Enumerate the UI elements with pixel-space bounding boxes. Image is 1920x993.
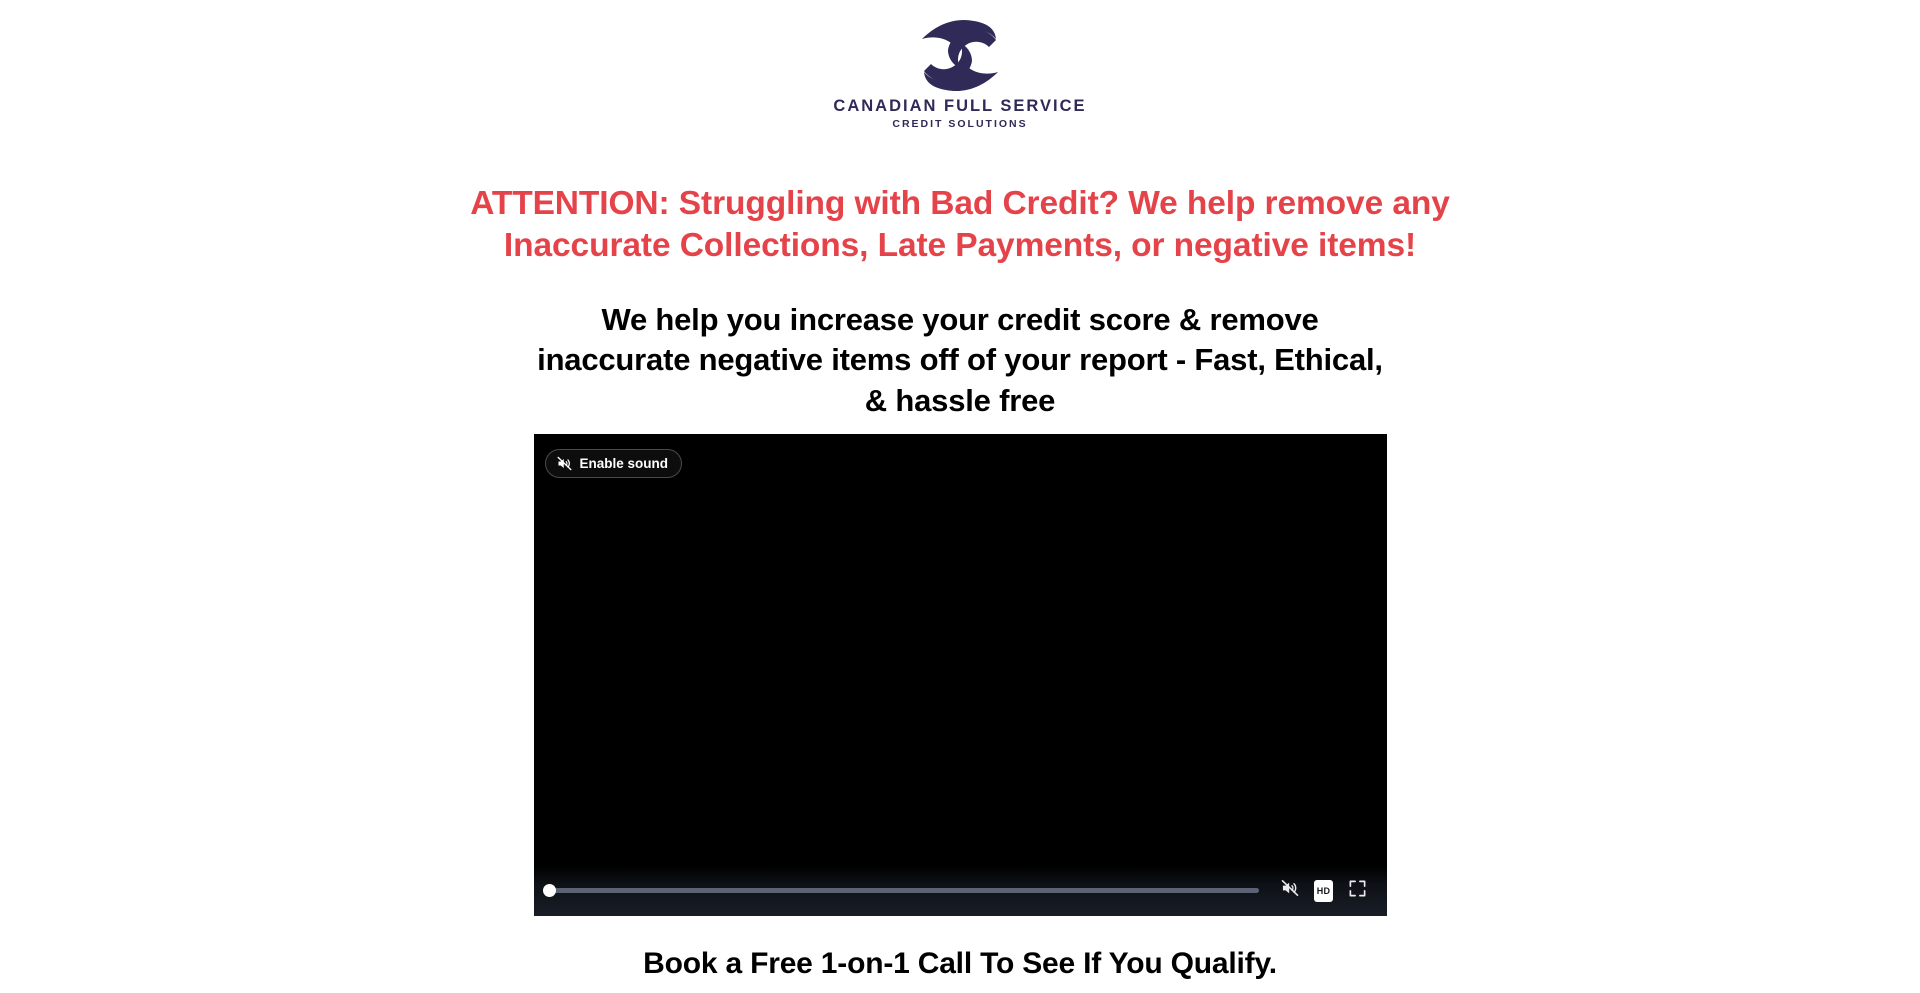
video-controls-bar: HD (534, 866, 1387, 916)
enable-sound-label: Enable sound (580, 456, 669, 471)
hd-quality-icon: HD (1314, 880, 1333, 902)
logo-tagline: CREDIT SOLUTIONS (892, 118, 1027, 130)
video-player[interactable]: Enable sound HD (534, 434, 1387, 916)
progress-track (544, 888, 1259, 893)
video-stage[interactable] (534, 434, 1387, 916)
landing-page: CANADIAN FULL SERVICE CREDIT SOLUTIONS A… (0, 0, 1920, 993)
cta-heading: Book a Free 1-on-1 Call To See If You Qu… (460, 944, 1460, 983)
seek-handle-icon[interactable] (543, 884, 556, 897)
mute-toggle-button[interactable] (1273, 874, 1307, 908)
attention-headline: ATTENTION: Struggling with Bad Credit? W… (430, 183, 1490, 266)
hd-quality-button[interactable]: HD (1307, 874, 1341, 908)
brand-logo[interactable]: CANADIAN FULL SERVICE CREDIT SOLUTIONS (830, 16, 1090, 130)
speaker-muted-icon (556, 455, 573, 472)
video-progress-slider[interactable] (544, 883, 1259, 899)
fullscreen-icon (1348, 879, 1367, 903)
speaker-muted-icon (1280, 878, 1300, 903)
logo-wordmark: CANADIAN FULL SERVICE (833, 97, 1086, 116)
fullscreen-button[interactable] (1341, 874, 1375, 908)
enable-sound-button[interactable]: Enable sound (545, 449, 683, 478)
value-proposition-subheadline: We help you increase your credit score &… (530, 300, 1390, 421)
c-swoosh-logo-icon (912, 16, 1008, 94)
